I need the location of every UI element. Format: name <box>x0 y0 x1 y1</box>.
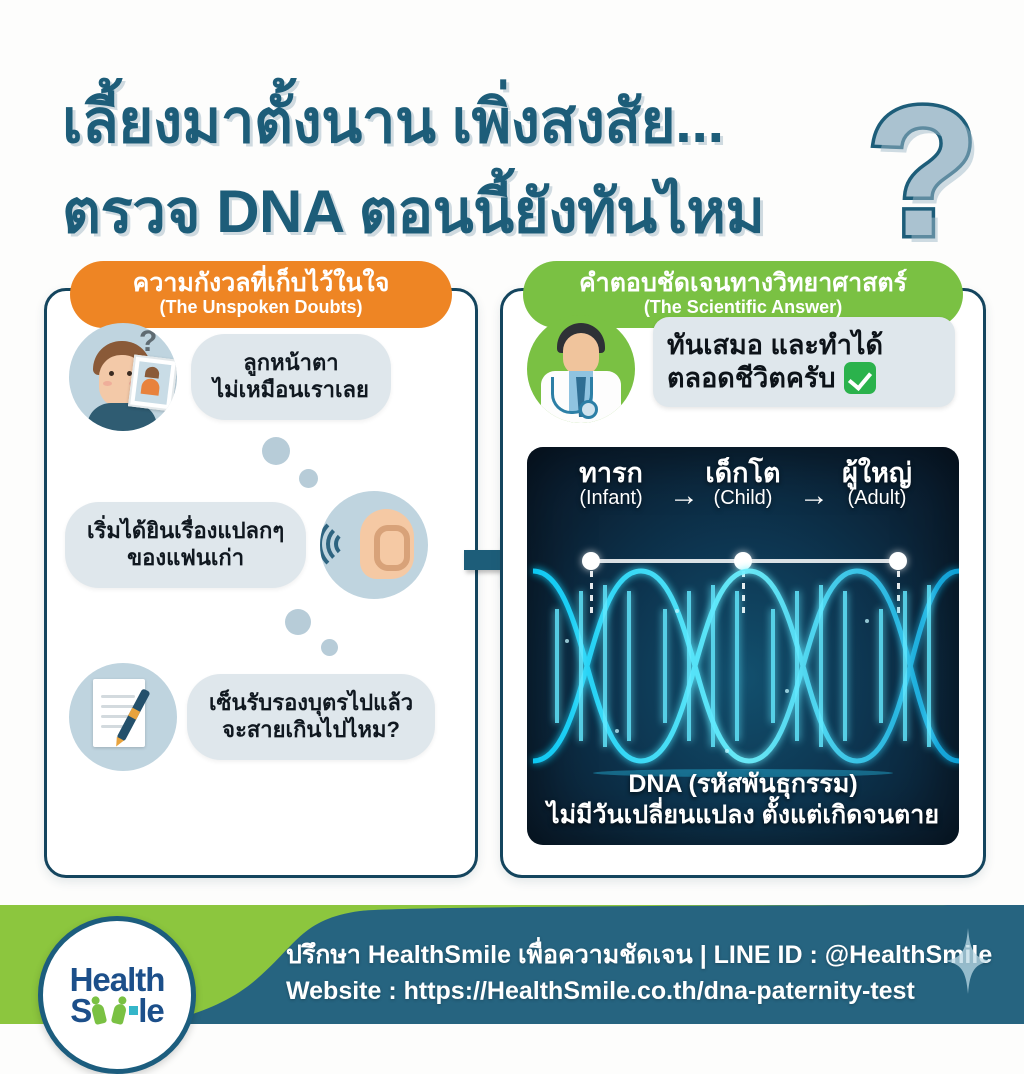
footer-line-1: ปรึกษา HealthSmile เพื่อความชัดเจน | LIN… <box>286 938 992 974</box>
healthsmile-logo[interactable]: Health S le <box>38 916 196 1074</box>
dna-caption-line-2: ไม่มีวันเปลี่ยนแปลง ตั้งแต่เกิดจนตาย <box>527 800 959 831</box>
doctor-speech-bubble: ทันเสมอ และทำได้ ตลอดชีวิตครับ <box>653 317 955 407</box>
green-check-icon <box>844 362 876 394</box>
logo-dot-square <box>129 1006 138 1015</box>
sparkle-icon <box>945 928 991 994</box>
page-title: เลี้ยงมาตั้งนาน เพิ่งสงสัย... ตรวจ DNA ต… <box>0 36 1024 226</box>
doctor-avatar-icon <box>527 315 635 423</box>
timeline-stage-1: ทารก (Infant) <box>551 459 671 509</box>
title-line-1: เลี้ยงมาตั้งนาน เพิ่งสงสัย... <box>62 74 724 169</box>
dna-caption-line-1: DNA (รหัสพันธุกรรม) <box>527 769 959 800</box>
logo-s: S <box>70 995 91 1026</box>
concern-2-line-1: เริ่มได้ยินเรื่องแปลกๆ <box>87 518 284 545</box>
concern-1-line-2: ไม่เหมือนเราเลย <box>213 377 369 404</box>
right-panel-scientific-answer: คำตอบชัดเจนทางวิทยาศาสตร์ (The Scientifi… <box>500 288 986 878</box>
two-people-smile-icon <box>92 998 126 1024</box>
left-panel-header-th: ความกังวลที่เก็บไว้ในใจ <box>96 270 426 296</box>
doctor-speech-line-2: ตลอดชีวิตครับ <box>667 362 836 395</box>
stage-2-th: เด็กโต <box>683 459 803 487</box>
dna-caption: DNA (รหัสพันธุกรรม) ไม่มีวันเปลี่ยนแปลง … <box>527 769 959 832</box>
footer-contact-text: ปรึกษา HealthSmile เพื่อความชัดเจน | LIN… <box>286 938 992 1009</box>
stage-3-en: (Adult) <box>817 487 937 509</box>
stage-3-th: ผู้ใหญ่ <box>817 459 937 487</box>
thinking-man-photo-icon: ? <box>69 323 177 431</box>
concern-2-line-2: ของแฟนเก่า <box>87 545 284 572</box>
title-line-2: ตรวจ DNA ตอนนี้ยังทันไหม <box>62 164 764 259</box>
logo-le: le <box>138 995 164 1026</box>
concern-item-3: เซ็นรับรองบุตรไปแล้ว จะสายเกินไปไหม? <box>69 663 435 771</box>
dna-timeline: ทารก (Infant) → เด็กโต (Child) → ผู้ใหญ่… <box>527 459 959 551</box>
left-panel-unspoken-doubts: ความกังวลที่เก็บไว้ในใจ (The Unspoken Do… <box>44 288 478 878</box>
concern-bubble-2: เริ่มได้ยินเรื่องแปลกๆ ของแฟนเก่า <box>65 502 306 588</box>
concern-item-1: ? ลูกหน้าตา ไม่เหมือนเราเลย <box>69 323 391 431</box>
timeline-stage-3: ผู้ใหญ่ (Adult) <box>817 459 937 509</box>
concern-bubble-3: เซ็นรับรองบุตรไปแล้ว จะสายเกินไปไหม? <box>187 674 435 760</box>
concern-1-line-1: ลูกหน้าตา <box>213 350 369 377</box>
dna-double-helix-icon <box>527 551 959 781</box>
logo-word-health: Health <box>70 964 165 995</box>
stage-2-en: (Child) <box>683 487 803 509</box>
concern-bubble-1: ลูกหน้าตา ไม่เหมือนเราเลย <box>191 334 391 420</box>
stage-1-th: ทารก <box>551 459 671 487</box>
timeline-stage-2: เด็กโต (Child) <box>683 459 803 509</box>
question-mark-icon: ? <box>866 80 979 265</box>
concern-item-2: เริ่มได้ยินเรื่องแปลกๆ ของแฟนเก่า <box>65 491 428 599</box>
document-pen-icon <box>69 663 177 771</box>
left-panel-header: ความกังวลที่เก็บไว้ในใจ (The Unspoken Do… <box>70 261 452 328</box>
left-panel-header-en: (The Unspoken Doubts) <box>96 298 426 317</box>
concern-3-line-2: จะสายเกินไปไหม? <box>209 717 413 744</box>
right-panel-header-en: (The Scientific Answer) <box>549 298 937 317</box>
dna-visual-box: ทารก (Infant) → เด็กโต (Child) → ผู้ใหญ่… <box>527 447 959 845</box>
doctor-speech-line-1: ทันเสมอ และทำได้ <box>667 329 883 362</box>
right-panel-header-th: คำตอบชัดเจนทางวิทยาศาสตร์ <box>549 270 937 296</box>
concern-3-line-1: เซ็นรับรองบุตรไปแล้ว <box>209 690 413 717</box>
footer-line-2[interactable]: Website : https://HealthSmile.co.th/dna-… <box>286 974 992 1010</box>
stage-1-en: (Infant) <box>551 487 671 509</box>
logo-word-smile: S le <box>70 995 164 1026</box>
ear-listening-icon <box>320 491 428 599</box>
